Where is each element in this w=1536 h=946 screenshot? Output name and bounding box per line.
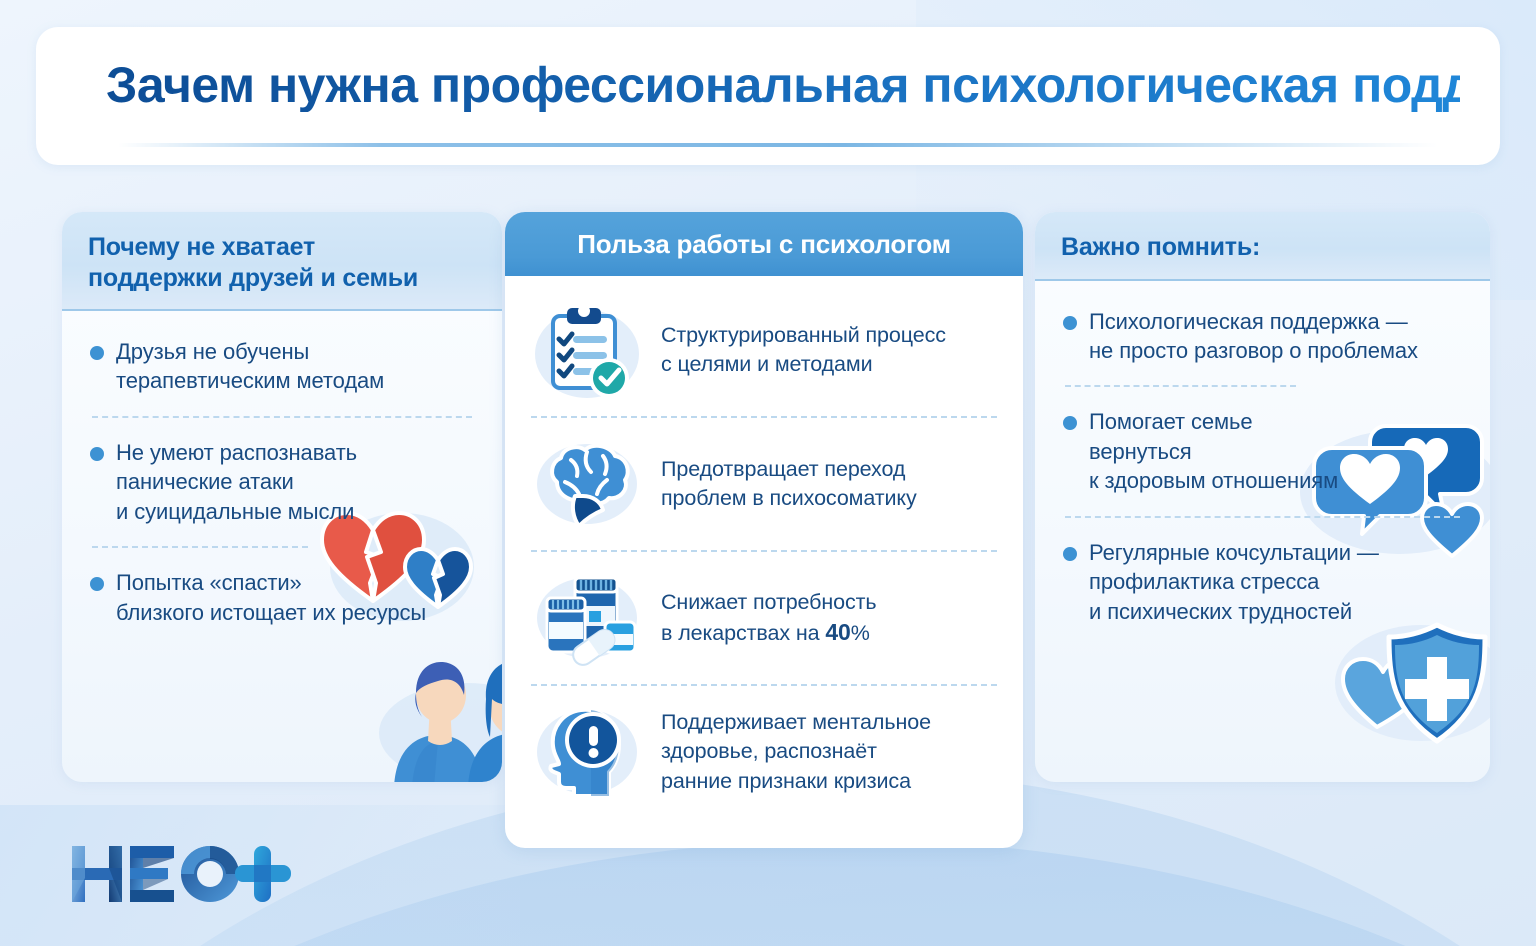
list-item: Не умеют распознавать панические атаки и… (86, 438, 478, 526)
benefit-line: с целями и методами (661, 350, 946, 379)
benefit-line: проблем в психосоматику (661, 484, 917, 513)
list-item: Психологическая поддержка — не просто ра… (1059, 307, 1466, 366)
benefit-row: Структурированный процесс с целями и мет… (505, 298, 1023, 402)
card-important-to-remember: Важно помнить: (1035, 212, 1490, 782)
list-item-line: профилактика стресса (1089, 567, 1379, 596)
right-card-title: Важно помнить: (1061, 232, 1464, 263)
list-item: Регулярные кочсультации — профилактика с… (1059, 538, 1466, 626)
list-item-line: близкого истощает их ресурсы (116, 598, 426, 627)
list-item-text: Регулярные кочсультации — профилактика с… (1089, 538, 1379, 626)
benefit-row: Снижает потребность в лекарствах на 40% (505, 566, 1023, 670)
list-item-line: Помогает семье (1089, 407, 1338, 436)
list-item: Попытка «спасти» близкого истощает их ре… (86, 568, 478, 627)
bullet-dot-icon (1063, 416, 1077, 430)
benefit-divider (531, 416, 997, 418)
benefit-row: Поддерживает ментальное здоровье, распоз… (505, 700, 1023, 804)
brand-logo (68, 838, 298, 910)
right-card-header: Важно помнить: (1035, 212, 1490, 281)
middle-card-title: Польза работы с психологом (505, 229, 1023, 260)
benefit-text: Снижает потребность в лекарствах на 40% (661, 588, 877, 649)
list-item-line: вернуться (1089, 437, 1338, 466)
list-item-text: Психологическая поддержка — не просто ра… (1089, 307, 1418, 366)
benefit-line: Снижает потребность (661, 588, 877, 617)
list-divider (1065, 385, 1296, 387)
card-benefits-of-psychologist: Польза работы с психологом (505, 212, 1023, 848)
list-item: Друзья не обучены терапевтическим метода… (86, 337, 478, 396)
list-item-text: Попытка «спасти» близкого истощает их ре… (116, 568, 426, 627)
benefit-row: Предотвращает переход проблем в психосом… (505, 432, 1023, 536)
list-item-line: терапевтическим методам (116, 366, 384, 395)
list-item-line: и суицидальные мысли (116, 497, 357, 526)
page-title: Зачем нужна профессиональная психологиче… (106, 59, 1460, 112)
left-card-list: Друзья не обучены терапевтическим метода… (62, 311, 502, 627)
list-divider (92, 416, 472, 418)
shield-heart-cross-icon (1325, 607, 1490, 767)
header-banner: Зачем нужна профессиональная психологиче… (36, 27, 1500, 165)
list-item-line: к здоровым отношениям (1089, 466, 1338, 495)
two-people-icon (372, 637, 502, 782)
bullet-dot-icon (1063, 316, 1077, 330)
title-underline (118, 143, 1438, 147)
list-item-text: Не умеют распознавать панические атаки и… (116, 438, 357, 526)
benefit-line: здоровье, распознаёт (661, 737, 931, 766)
middle-card-header: Польза работы с психологом (505, 212, 1023, 276)
bullet-dot-icon (1063, 547, 1077, 561)
list-divider (92, 546, 308, 548)
bullet-dot-icon (90, 577, 104, 591)
list-item-line: Попытка «спасти» (116, 568, 426, 597)
benefit-text: Структурированный процесс с целями и мет… (661, 321, 946, 379)
list-item-text: Помогает семье вернуться к здоровым отно… (1089, 407, 1338, 495)
bullet-dot-icon (90, 447, 104, 461)
benefit-value: 40 (825, 619, 850, 645)
benefit-unit: % (851, 621, 870, 645)
left-card-title-line1: Почему не хватает (88, 232, 476, 263)
benefit-line: Предотвращает переход (661, 455, 917, 484)
list-item-line: Психологическая поддержка — (1089, 307, 1418, 336)
benefit-line: Поддерживает ментальное (661, 708, 931, 737)
list-item: Помогает семье вернуться к здоровым отно… (1059, 407, 1466, 495)
list-item-line: панические атаки (116, 467, 357, 496)
benefit-line: ранние признаки кризиса (661, 767, 931, 796)
middle-card-list: Структурированный процесс с целями и мет… (505, 276, 1023, 804)
list-item-line: не просто разговор о проблемах (1089, 336, 1418, 365)
list-item-line: Не умеют распознавать (116, 438, 357, 467)
head-alert-icon (531, 700, 647, 804)
clipboard-checklist-icon (531, 298, 647, 402)
benefit-text: Предотвращает переход проблем в психосом… (661, 455, 917, 513)
left-card-header: Почему не хватает поддержки друзей и сем… (62, 212, 502, 311)
left-card-title-line2: поддержки друзей и семьи (88, 263, 476, 294)
card-why-friends-not-enough: Почему не хватает поддержки друзей и сем… (62, 212, 502, 782)
brain-icon (531, 432, 647, 536)
benefit-divider (531, 550, 997, 552)
list-item-line: Регулярные кочсультации — (1089, 538, 1379, 567)
benefit-line: Структурированный процесс (661, 321, 946, 350)
infographic-page: Зачем нужна профессиональная психологиче… (0, 0, 1536, 946)
list-item-line: и психических трудностей (1089, 597, 1379, 626)
benefit-line-prefix: в лекарствах на (661, 621, 825, 645)
pill-bottles-icon (531, 566, 647, 670)
benefit-divider (531, 684, 997, 686)
list-divider (1065, 516, 1460, 518)
list-item-line: Друзья не обучены (116, 337, 384, 366)
right-card-list: Психологическая поддержка — не просто ра… (1035, 281, 1490, 627)
list-item-text: Друзья не обучены терапевтическим метода… (116, 337, 384, 396)
benefit-text: Поддерживает ментальное здоровье, распоз… (661, 708, 931, 796)
bullet-dot-icon (90, 346, 104, 360)
benefit-line: в лекарствах на 40% (661, 617, 877, 648)
